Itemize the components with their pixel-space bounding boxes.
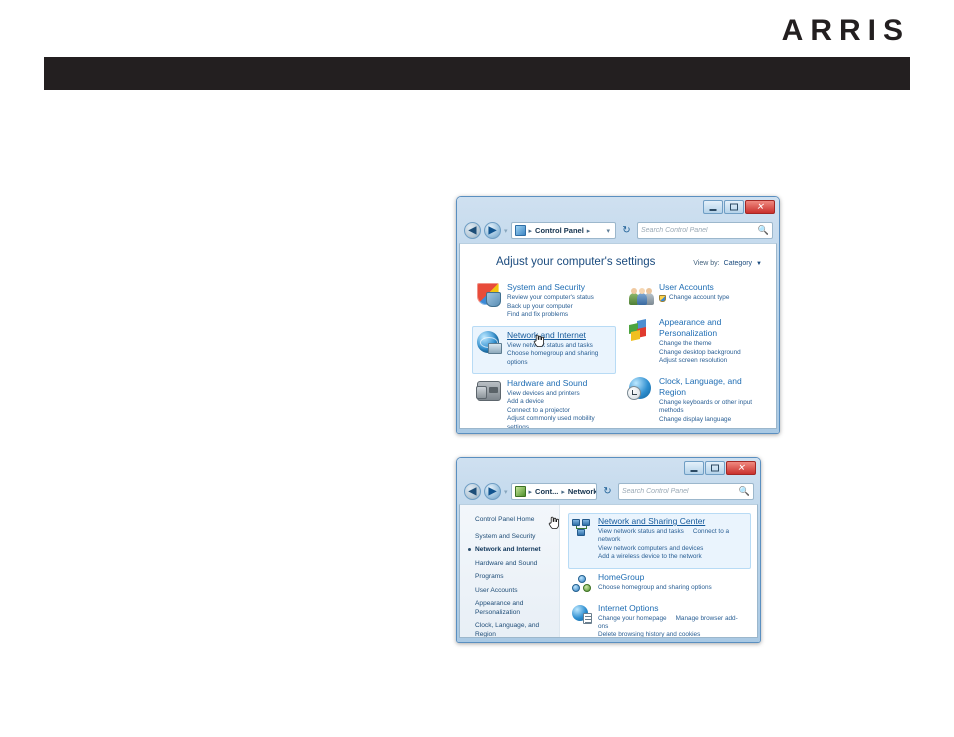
group-link[interactable]: Choose homegroup and sharing options bbox=[598, 584, 712, 591]
category-body: System and SecurityReview your computer'… bbox=[507, 282, 611, 320]
category-link[interactable]: Back up your computer bbox=[507, 303, 611, 312]
view-by-label: View by: bbox=[693, 260, 719, 267]
group-title[interactable]: Internet Options bbox=[598, 603, 747, 614]
back-button[interactable]: ◀ bbox=[464, 222, 481, 239]
category-link[interactable]: Change the theme bbox=[659, 340, 763, 349]
group-title[interactable]: HomeGroup bbox=[598, 572, 712, 583]
view-by-control[interactable]: View by: Category ▼ bbox=[693, 260, 762, 267]
category-hardware-and-sound[interactable]: Hardware and SoundView devices and print… bbox=[472, 374, 616, 429]
homegroup-icon bbox=[572, 573, 592, 593]
group-link-row: View network computers and devices bbox=[598, 545, 747, 553]
category-link[interactable]: Review your computer's status bbox=[507, 294, 611, 303]
close-icon: ✕ bbox=[737, 464, 746, 473]
globe-monitor-icon bbox=[477, 331, 501, 355]
history-caret-icon[interactable]: ▾ bbox=[504, 227, 508, 235]
sidebar-item-label: System and Security bbox=[475, 533, 535, 540]
category-link[interactable]: Adjust screen resolution bbox=[659, 357, 763, 366]
group-link-row: Change your homepageManage browser add-o… bbox=[598, 615, 747, 632]
category-link[interactable]: Add a device bbox=[507, 398, 611, 407]
page-title: Adjust your computer's settings bbox=[496, 256, 693, 268]
window1-controls: ✕ bbox=[703, 200, 775, 214]
user-accounts-icon bbox=[629, 283, 653, 307]
category-title[interactable]: Hardware and Sound bbox=[507, 378, 611, 389]
sidebar-item-clock-language-and-region[interactable]: Clock, Language, and Region bbox=[468, 620, 555, 639]
uac-shield-icon bbox=[659, 295, 666, 302]
search-box[interactable]: Search Control Panel 🔍 bbox=[637, 222, 773, 239]
breadcrumb-separator-icon: ▸ bbox=[529, 227, 533, 235]
breadcrumb-bar[interactable]: ▸ Control Panel ▸ ▾ bbox=[511, 222, 616, 239]
back-button[interactable]: ◀ bbox=[464, 483, 481, 500]
category-link[interactable]: Adjust commonly used mobility settings bbox=[507, 415, 611, 429]
category-body: Network and InternetView network status … bbox=[507, 330, 611, 368]
category-title[interactable]: User Accounts bbox=[659, 282, 763, 293]
sidebar-item-label: Network and Internet bbox=[475, 546, 541, 553]
minimize-button[interactable] bbox=[684, 461, 704, 475]
window2-controls: ✕ bbox=[684, 461, 756, 475]
group-body: HomeGroupChoose homegroup and sharing op… bbox=[598, 572, 712, 593]
breadcrumb-bar[interactable]: ▸ Cont... ▸ Network and I... ▸ ▾ bbox=[511, 483, 597, 500]
sidebar-item-label: Control Panel Home bbox=[475, 516, 534, 523]
category-link[interactable]: Change account type bbox=[659, 294, 763, 303]
appearance-icon bbox=[629, 318, 653, 342]
breadcrumb-separator-icon[interactable]: ▸ bbox=[587, 227, 591, 235]
search-icon: 🔍 bbox=[758, 225, 769, 236]
search-input[interactable]: Search Control Panel bbox=[641, 227, 758, 234]
breadcrumb-control-panel[interactable]: Cont... bbox=[535, 487, 558, 496]
window2-client-area: Control Panel HomeSystem and SecurityNet… bbox=[459, 504, 758, 638]
category-column-left: System and SecurityReview your computer'… bbox=[472, 278, 616, 429]
network-and-internet-window[interactable]: ✕ ◀ ▶ ▾ ▸ Cont... ▸ Network and I... ▸ ▾… bbox=[456, 457, 761, 643]
group-link[interactable]: View network computers and devices bbox=[598, 545, 703, 552]
category-system-and-security[interactable]: System and SecurityReview your computer'… bbox=[472, 278, 616, 326]
group-body: Network and Sharing CenterView network s… bbox=[598, 516, 747, 562]
close-button[interactable]: ✕ bbox=[726, 461, 756, 475]
forward-button[interactable]: ▶ bbox=[484, 483, 501, 500]
breadcrumb-separator-icon[interactable]: ▸ bbox=[561, 488, 565, 496]
sidebar-item-hardware-and-sound[interactable]: Hardware and Sound bbox=[468, 557, 555, 571]
clock-region-icon bbox=[629, 377, 653, 401]
group-link-row: View network status and tasksConnect to … bbox=[598, 528, 747, 545]
breadcrumb-control-panel[interactable]: Control Panel bbox=[535, 226, 584, 235]
group-link-row: Delete browsing history and cookies bbox=[598, 631, 747, 638]
category-clock-language-and-region[interactable]: Clock, Language, and RegionChange keyboa… bbox=[624, 372, 768, 429]
shield-icon bbox=[477, 283, 501, 307]
group-link[interactable]: Change your homepage bbox=[598, 615, 667, 622]
forward-button[interactable]: ▶ bbox=[484, 222, 501, 239]
group-link[interactable]: Delete browsing history and cookies bbox=[598, 631, 700, 638]
close-icon: ✕ bbox=[756, 203, 765, 212]
category-link[interactable]: View network status and tasks bbox=[507, 342, 611, 351]
category-link[interactable]: Choose homegroup and sharing options bbox=[507, 350, 611, 367]
category-user-accounts[interactable]: User AccountsChange account type bbox=[624, 278, 768, 313]
group-body: Internet OptionsChange your homepageMana… bbox=[598, 603, 747, 638]
category-title[interactable]: Appearance and Personalization bbox=[659, 317, 763, 339]
sidebar-item-user-accounts[interactable]: User Accounts bbox=[468, 584, 555, 598]
maximize-button[interactable] bbox=[705, 461, 725, 475]
window1-address-bar: ◀ ▶ ▾ ▸ Control Panel ▸ ▾ ↻ Search Contr… bbox=[459, 221, 777, 243]
window2-address-bar: ◀ ▶ ▾ ▸ Cont... ▸ Network and I... ▸ ▾ ↻… bbox=[459, 482, 758, 504]
category-link-label: Change account type bbox=[669, 294, 729, 303]
close-button[interactable]: ✕ bbox=[745, 200, 775, 214]
breadcrumb-separator-icon: ▸ bbox=[529, 488, 533, 496]
category-body: Appearance and PersonalizationChange the… bbox=[659, 317, 763, 366]
group-link[interactable]: View network status and tasks bbox=[598, 528, 684, 535]
category-appearance-and-personalization[interactable]: Appearance and PersonalizationChange the… bbox=[624, 313, 768, 372]
network-icon bbox=[515, 486, 526, 497]
group-internet-options[interactable]: Internet OptionsChange your homepageMana… bbox=[568, 600, 751, 638]
category-link[interactable]: Change desktop background bbox=[659, 349, 763, 358]
sidebar-item-label: User Accounts bbox=[475, 587, 518, 594]
sidebar-item-label: Clock, Language, and Region bbox=[475, 622, 539, 638]
sidebar-item-label: Programs bbox=[475, 573, 504, 580]
group-link-row: Add a wireless device to the network bbox=[598, 553, 747, 561]
sidebar-item-network-and-internet[interactable]: Network and Internet bbox=[468, 544, 555, 558]
network-sharing-center-icon bbox=[572, 517, 592, 537]
breadcrumb-network-and-internet[interactable]: Network and I... bbox=[568, 487, 597, 496]
sidebar: Control Panel HomeSystem and SecurityNet… bbox=[460, 505, 560, 637]
main-content: Network and Sharing CenterView network s… bbox=[560, 505, 757, 637]
hardware-icon bbox=[477, 379, 501, 403]
category-body: User AccountsChange account type bbox=[659, 282, 763, 307]
search-icon: 🔍 bbox=[739, 486, 750, 497]
view-by-value[interactable]: Category bbox=[724, 260, 752, 267]
refresh-button[interactable]: ↻ bbox=[600, 484, 615, 499]
search-input[interactable]: Search Control Panel bbox=[622, 488, 739, 495]
group-link-row: Choose homegroup and sharing options bbox=[598, 584, 712, 592]
refresh-button[interactable]: ↻ bbox=[619, 223, 634, 238]
category-link[interactable]: Find and fix problems bbox=[507, 311, 611, 320]
sidebar-item-appearance-and-personalization[interactable]: Appearance and Personalization bbox=[468, 598, 555, 620]
group-title[interactable]: Network and Sharing Center bbox=[598, 516, 747, 527]
category-title[interactable]: System and Security bbox=[507, 282, 611, 293]
group-link[interactable]: Add a wireless device to the network bbox=[598, 553, 702, 560]
window2-titlebar[interactable]: ✕ bbox=[459, 460, 758, 482]
minimize-button[interactable] bbox=[703, 200, 723, 214]
category-link[interactable]: Change keyboards or other input methods bbox=[659, 399, 763, 416]
category-link[interactable]: Change display language bbox=[659, 416, 763, 425]
history-caret-icon[interactable]: ▾ bbox=[504, 488, 508, 496]
sidebar-item-label: Hardware and Sound bbox=[475, 560, 537, 567]
category-body: Hardware and SoundView devices and print… bbox=[507, 378, 611, 429]
category-body: Clock, Language, and RegionChange keyboa… bbox=[659, 376, 763, 425]
maximize-button[interactable] bbox=[724, 200, 744, 214]
control-panel-icon bbox=[515, 225, 526, 236]
internet-options-icon bbox=[572, 604, 592, 624]
arris-logo: ARRIS bbox=[782, 14, 910, 48]
sidebar-item-control-panel-home[interactable]: Control Panel Home bbox=[468, 513, 555, 530]
category-title[interactable]: Clock, Language, and Region bbox=[659, 376, 763, 398]
header-black-bar bbox=[44, 57, 910, 90]
category-column-right: User AccountsChange account typeAppearan… bbox=[624, 278, 768, 429]
control-panel-header: Adjust your computer's settings View by:… bbox=[460, 244, 776, 268]
sidebar-item-system-and-security[interactable]: System and Security bbox=[468, 530, 555, 544]
window1-client-area: Adjust your computer's settings View by:… bbox=[459, 243, 777, 429]
category-link[interactable]: View devices and printers bbox=[507, 390, 611, 399]
sidebar-item-label: Appearance and Personalization bbox=[475, 600, 523, 616]
control-panel-window[interactable]: ✕ ◀ ▶ ▾ ▸ Control Panel ▸ ▾ ↻ Search Con… bbox=[456, 196, 780, 434]
category-columns: System and SecurityReview your computer'… bbox=[460, 268, 776, 429]
category-network-and-internet[interactable]: Network and InternetView network status … bbox=[472, 326, 616, 374]
chevron-down-icon[interactable]: ▼ bbox=[756, 261, 762, 267]
breadcrumb-dropdown-icon[interactable]: ▾ bbox=[606, 227, 612, 235]
search-box[interactable]: Search Control Panel 🔍 bbox=[618, 483, 754, 500]
category-link[interactable]: Connect to a projector bbox=[507, 407, 611, 416]
group-network-and-sharing-center[interactable]: Network and Sharing CenterView network s… bbox=[568, 513, 751, 569]
window1-titlebar[interactable]: ✕ bbox=[459, 199, 777, 221]
group-homegroup[interactable]: HomeGroupChoose homegroup and sharing op… bbox=[568, 569, 751, 600]
sidebar-item-programs[interactable]: Programs bbox=[468, 571, 555, 585]
category-title[interactable]: Network and Internet bbox=[507, 330, 611, 341]
